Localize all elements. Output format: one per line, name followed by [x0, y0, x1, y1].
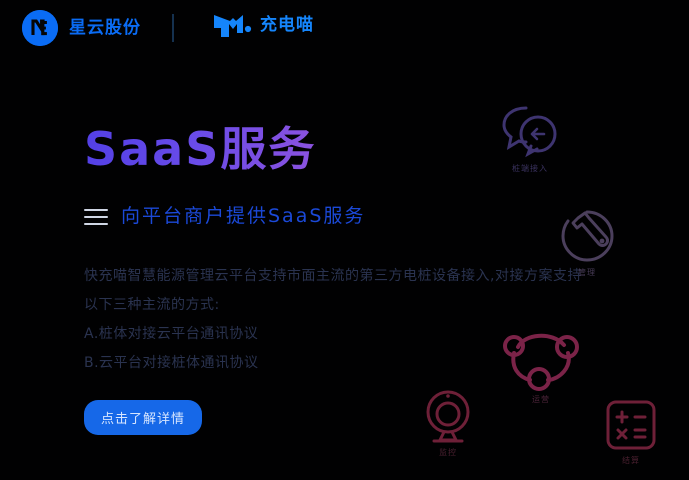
page-subtitle: 向平台商户提供SaaS服务: [121, 207, 365, 226]
deco-settlement: 结算: [604, 398, 658, 465]
header-bar: 星云股份 充电喵: [0, 0, 689, 56]
deco-management-label: 管理: [578, 269, 596, 277]
wrench-gear-icon: [558, 208, 616, 264]
cat-face-icon: [212, 12, 252, 38]
deco-pile-access-label: 桩端接入: [512, 165, 548, 173]
hero-paragraph: 快充喵智慧能源管理云平台支持市面主流的第三方电桩设备接入,对接方案支持以下三种主…: [84, 262, 584, 320]
brand-xingyun-label: 星云股份: [69, 20, 141, 37]
deco-operation: 运营: [500, 327, 582, 404]
brand-chongdianmiao[interactable]: 充电喵: [212, 12, 314, 38]
hamburger-icon: [84, 209, 108, 225]
network-nodes-icon: [500, 327, 582, 391]
brand-chongdianmiao-label: 充电喵: [260, 17, 314, 34]
deco-management: 管理: [558, 208, 616, 277]
deco-settlement-label: 结算: [622, 457, 640, 465]
chat-bubbles-arrow-icon: [498, 102, 562, 160]
brand-xingyun[interactable]: 星云股份: [22, 10, 141, 46]
calculator-icon: [604, 398, 658, 452]
learn-more-button[interactable]: 点击了解详情: [84, 400, 202, 435]
ne-monogram-circle-icon: [22, 10, 58, 46]
deco-operation-label: 运营: [532, 396, 550, 404]
deco-monitoring-label: 监控: [439, 449, 457, 457]
deco-monitoring: 监控: [420, 388, 476, 457]
deco-pile-access: 桩端接入: [498, 102, 562, 173]
subtitle-row: 向平台商户提供SaaS服务: [84, 207, 604, 226]
brand-divider: [172, 14, 174, 42]
monitor-camera-icon: [420, 388, 476, 444]
promo-slide: 星云股份 充电喵 SaaS服务 向平台商户提供SaaS服务 快充喵智慧能源管理云…: [0, 0, 689, 480]
